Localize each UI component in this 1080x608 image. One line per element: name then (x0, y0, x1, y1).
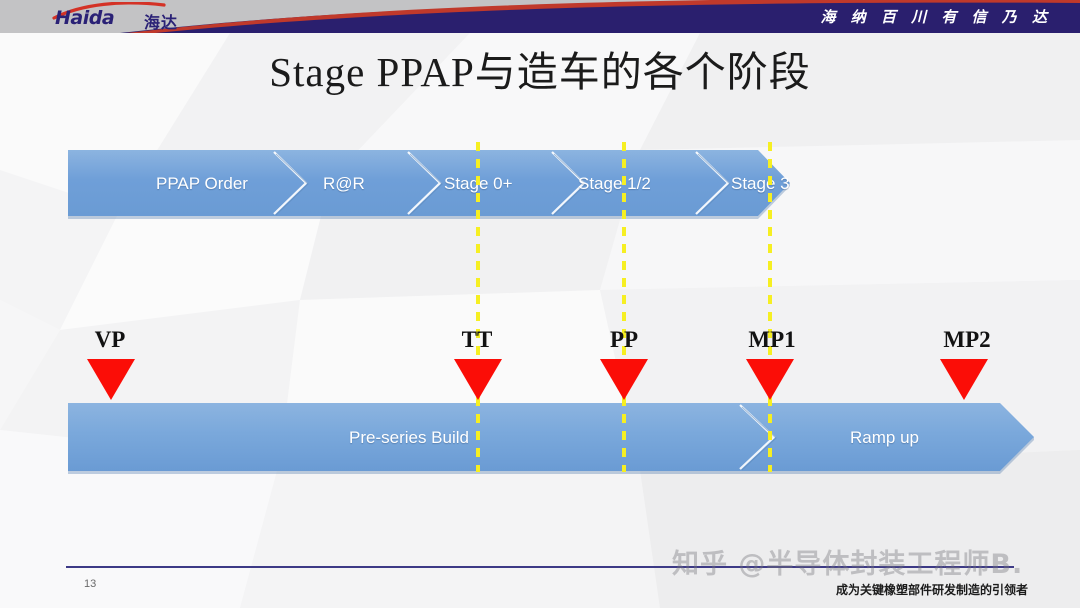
build-phase-bar: Pre-series Build Ramp up (68, 403, 1038, 471)
page-title: Stage PPAP与造车的各个阶段 (0, 38, 1080, 98)
slide-canvas: Haida 海达 海 纳 百 川 有 信 乃 达 Stage PPAP与造车的各… (0, 0, 1080, 608)
pp-guide-line (622, 142, 626, 472)
page-number: 13 (84, 578, 96, 590)
header-band: Haida 海达 海 纳 百 川 有 信 乃 达 (0, 0, 1080, 33)
logo-wordmark-cn: 海达 (144, 9, 178, 33)
milestone-marker-mp1 (746, 359, 794, 400)
stage-chevron-shapes (68, 150, 798, 222)
logo-wordmark: Haida (55, 7, 114, 29)
milestone-marker-tt (454, 359, 502, 400)
build-phase-shapes (68, 403, 1038, 477)
milestone-marker-mp2 (940, 359, 988, 400)
stage-chevron-bar: PPAP Order R@R Stage 0+ Stage 1/2 Stage … (68, 150, 798, 216)
mp1-guide-line (768, 142, 772, 472)
milestone-label-pp: PP (610, 327, 638, 353)
footer-slogan: 成为关键橡塑部件研发制造的引领者 (836, 581, 1028, 598)
milestone-label-tt: TT (462, 327, 493, 353)
header-slogan: 海 纳 百 川 有 信 乃 达 (820, 6, 1052, 27)
milestone-marker-vp (87, 359, 135, 400)
tt-guide-line (476, 142, 480, 472)
milestone-label-mp1: MP1 (748, 327, 795, 353)
milestone-marker-pp (600, 359, 648, 400)
milestone-label-vp: VP (95, 327, 126, 353)
footer-divider (66, 566, 1014, 568)
brand-logo: Haida 海达 (52, 2, 220, 32)
milestone-label-mp2: MP2 (943, 327, 990, 353)
